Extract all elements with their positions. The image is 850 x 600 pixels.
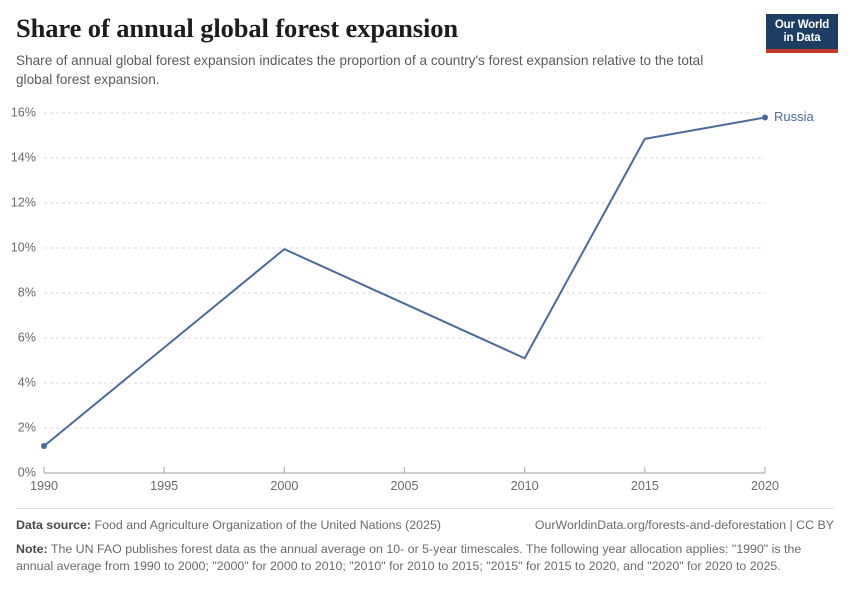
chart-subtitle: Share of annual global forest expansion … (16, 51, 742, 90)
x-tick-label-2005: 2005 (390, 479, 418, 493)
x-axis (44, 467, 765, 473)
note-label: Note: (16, 542, 48, 556)
x-tick-label-2020: 2020 (751, 479, 779, 493)
chart-note: Note: The UN FAO publishes forest data a… (16, 541, 834, 576)
note-text: The UN FAO publishes forest data as the … (16, 542, 801, 574)
x-tick-label-2015: 2015 (631, 479, 659, 493)
chart-header: Share of annual global forest expansion … (16, 14, 756, 89)
series-point-end[interactable] (762, 115, 768, 121)
data-series-lines[interactable] (41, 115, 768, 450)
source-url-link[interactable]: OurWorldinData.org/forests-and-deforesta… (535, 517, 834, 534)
y-tick-label-10%: 10% (11, 240, 36, 254)
chart-footer: Data source: Food and Agriculture Organi… (16, 508, 834, 576)
x-tick-label-1995: 1995 (150, 479, 178, 493)
x-axis-tick-labels: 1990199520002005201020152020 (30, 479, 779, 493)
chart-page: Share of annual global forest expansion … (0, 0, 850, 600)
y-tick-label-14%: 14% (11, 150, 36, 164)
gridlines (44, 113, 765, 428)
page-title: Share of annual global forest expansion (16, 14, 756, 44)
y-tick-label-8%: 8% (18, 285, 36, 299)
y-tick-label-16%: 16% (11, 105, 36, 119)
footer-top-row: Data source: Food and Agriculture Organi… (16, 517, 834, 534)
our-world-in-data-logo[interactable]: Our World in Data (766, 14, 838, 53)
y-tick-label-12%: 12% (11, 195, 36, 209)
series-point-start[interactable] (41, 443, 47, 449)
series-end-labels: Russia (774, 109, 815, 124)
y-axis-tick-labels: 0%2%4%6%8%10%12%14%16% (11, 105, 36, 479)
series-label-russia: Russia (774, 109, 815, 124)
logo-line-1: Our World (770, 19, 834, 32)
series-line-russia[interactable] (44, 118, 765, 447)
data-source: Data source: Food and Agriculture Organi… (16, 517, 441, 534)
y-tick-label-0%: 0% (18, 465, 36, 479)
line-chart-svg: 0%2%4%6%8%10%12%14%16% 19901995200020052… (0, 95, 850, 505)
data-source-label: Data source: (16, 518, 91, 532)
logo-line-2: in Data (770, 32, 834, 45)
chart-plot-area[interactable]: 0%2%4%6%8%10%12%14%16% 19901995200020052… (0, 95, 850, 505)
data-source-text: Food and Agriculture Organization of the… (95, 518, 441, 532)
y-tick-label-6%: 6% (18, 330, 36, 344)
y-tick-label-4%: 4% (18, 375, 36, 389)
x-tick-label-2010: 2010 (511, 479, 539, 493)
x-tick-label-2000: 2000 (270, 479, 298, 493)
y-tick-label-2%: 2% (18, 420, 36, 434)
x-tick-label-1990: 1990 (30, 479, 58, 493)
